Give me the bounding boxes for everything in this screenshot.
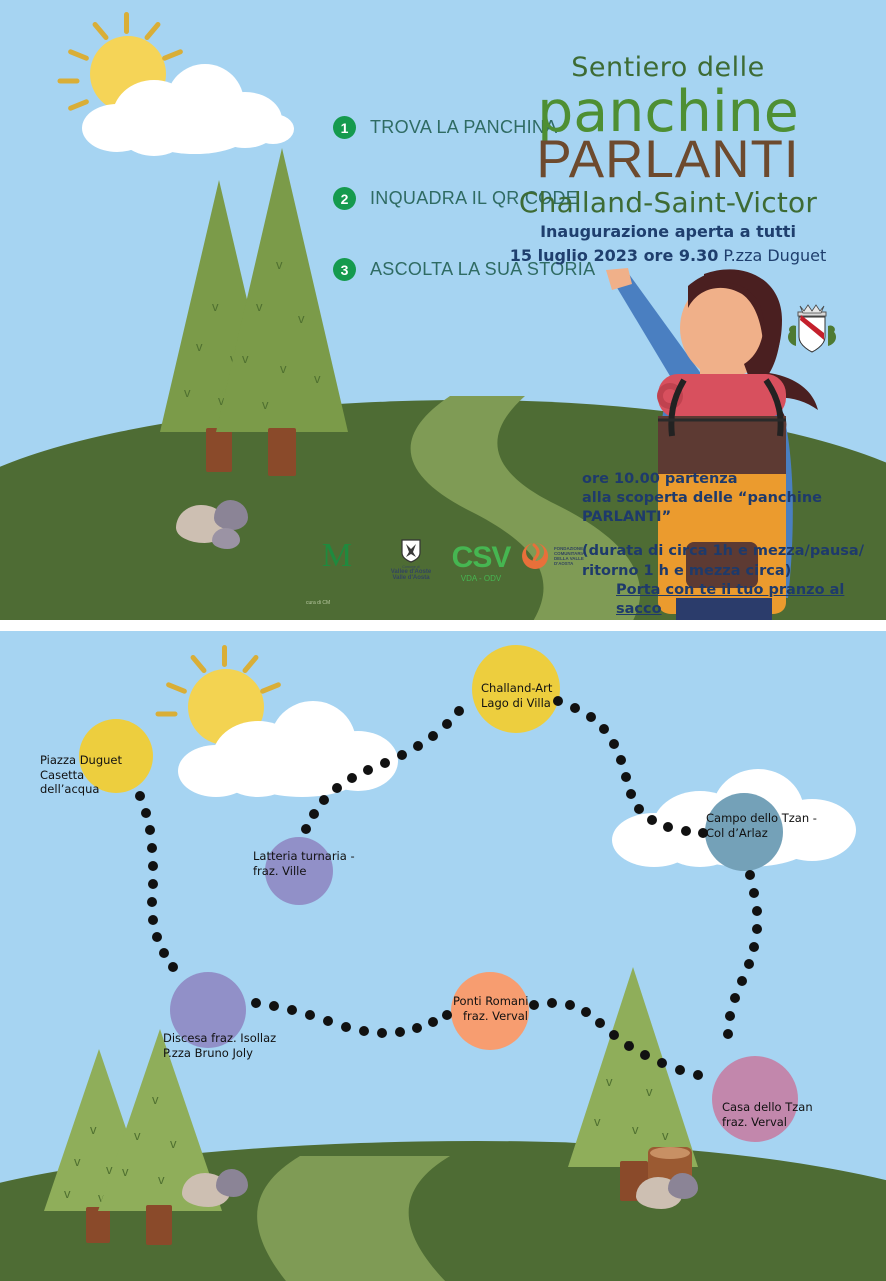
sun-ray xyxy=(124,12,129,34)
step-number-badge: 2 xyxy=(333,187,356,210)
station-label-casa-dello-tzan: Casa dello Tzan fraz. Verval xyxy=(722,1100,813,1129)
panel-divider xyxy=(0,620,886,631)
label-line: fraz. Verval xyxy=(722,1115,813,1130)
map-pine-tree: v v v v v v xyxy=(98,1029,222,1241)
label-line: Discesa fraz. Isollaz xyxy=(163,1031,276,1046)
sun-ray xyxy=(58,79,80,84)
cloud-shape xyxy=(82,62,292,152)
label-line: Casa dello Tzan xyxy=(722,1100,813,1115)
label-line: Latteria turnaria - xyxy=(253,849,355,864)
poster-title-block: Sentiero delle panchine PARLANTI Challan… xyxy=(458,52,878,265)
csv-logo-caption: VDA - ODV xyxy=(442,574,520,583)
sun-ray xyxy=(67,49,89,62)
schedule-text-block: ore 10.00 partenza alla scoperta delle “… xyxy=(582,470,882,619)
sponsor-fondazione-logo: FONDAZIONE COMUNITARIA DELLA VALLE D'AOS… xyxy=(520,541,602,571)
crest-caption-3: Valle d'Aosta xyxy=(380,575,442,581)
sponsor-m-logo: M xyxy=(306,539,368,577)
station-label-challand-art: Challand-Art Lago di Villa xyxy=(481,681,552,710)
sponsor-logo-row: M Comune di Vallee d'Aoste Valle d'Aosta… xyxy=(300,537,600,597)
fondazione-caption-4: D'AOSTA xyxy=(554,561,585,566)
date-location: P.zza Duguet xyxy=(718,246,826,265)
title-event-subtitle: Inaugurazione aperta a tutti xyxy=(458,222,878,241)
label-line: Challand-Art xyxy=(481,681,552,696)
rock-shape xyxy=(212,528,240,549)
label-line: Piazza Duguet xyxy=(40,753,122,768)
sponsor-csv-logo: CSV VDA - ODV xyxy=(442,543,520,583)
label-line: Ponti Romani xyxy=(453,994,528,1009)
fondazione-ring-icon xyxy=(520,541,550,571)
station-label-discesa-isollaz: Discesa fraz. Isollaz P.zza Bruno Joly xyxy=(163,1031,276,1060)
map-panel: v v v v v v v v v v v v v v v v v xyxy=(0,631,886,1281)
credit-text: cura di CM xyxy=(306,600,330,606)
trail-segment-1 xyxy=(135,791,178,972)
map-sun-ray xyxy=(156,712,178,717)
station-label-piazza-duguet: Piazza Duguet Casetta dell’acqua xyxy=(40,753,122,797)
pine-tree: v v v v v v v xyxy=(216,148,348,458)
coat-of-arms-icon xyxy=(784,300,840,358)
title-municipality: Challand-Saint-Victor xyxy=(458,186,878,219)
label-line: Col d’Arlaz xyxy=(706,826,817,841)
map-sun-ray xyxy=(222,645,227,667)
map-rock-shape xyxy=(216,1169,248,1197)
top-illustration-panel: v v v v v v v v v v v v v 1 TROVA LA PAN… xyxy=(0,0,886,620)
map-rock-shape xyxy=(668,1173,698,1199)
station-label-campo-dello-tzan: Campo dello Tzan - Col d’Arlaz xyxy=(706,811,817,840)
label-line: Lago di Villa xyxy=(481,696,552,711)
map-cloud-shape xyxy=(178,697,408,797)
schedule-line-4: ritorno 1 h e mezza circa) xyxy=(582,562,882,581)
step-number-badge: 1 xyxy=(333,116,356,139)
map-sun-ray xyxy=(259,682,281,695)
sponsor-valle-aosta-crest: Comune di Vallee d'Aoste Valle d'Aosta xyxy=(380,537,442,581)
title-line-parlanti: PARLANTI xyxy=(458,136,878,185)
valle-aosta-shield-icon xyxy=(399,537,423,563)
station-label-ponti-romani: Ponti Romani fraz. Verval xyxy=(453,994,528,1023)
rock-shape xyxy=(214,500,248,530)
m-logo-mark: M xyxy=(306,539,368,573)
schedule-lunch-note: Porta con te il tuo pranzo al sacco xyxy=(582,581,882,619)
sun-ray xyxy=(92,21,110,41)
label-line: fraz. Verval xyxy=(453,1009,528,1024)
trail-segment-5 xyxy=(723,870,762,1039)
schedule-line-2: alla scoperta delle “panchine PARLANTI” xyxy=(582,489,882,527)
label-line: P.zza Bruno Joly xyxy=(163,1046,276,1061)
sun-ray xyxy=(144,21,162,41)
trail-segment-2 xyxy=(251,998,452,1038)
label-line: fraz. Ville xyxy=(253,864,355,879)
schedule-line-3: (durata di circa 1h e mezza/pausa/ xyxy=(582,542,882,561)
label-line: Casetta xyxy=(40,768,122,783)
step-number-badge: 3 xyxy=(333,258,356,281)
poster-root: v v v v v v v v v v v v v 1 TROVA LA PAN… xyxy=(0,0,886,1281)
sun-ray xyxy=(161,49,183,62)
map-sun-ray xyxy=(190,654,208,674)
station-label-latteria-turnaria: Latteria turnaria - fraz. Ville xyxy=(253,849,355,878)
date-bold: 15 luglio 2023 ore 9.30 xyxy=(510,246,719,265)
schedule-line-1: ore 10.00 partenza xyxy=(582,470,882,489)
title-date-line: 15 luglio 2023 ore 9.30 P.zza Duguet xyxy=(458,246,878,265)
map-sun-ray xyxy=(165,682,187,695)
map-sun-ray xyxy=(242,654,260,674)
label-line: dell’acqua xyxy=(40,782,122,797)
csv-logo-mark: CSV xyxy=(442,543,520,573)
label-line: Campo dello Tzan - xyxy=(706,811,817,826)
